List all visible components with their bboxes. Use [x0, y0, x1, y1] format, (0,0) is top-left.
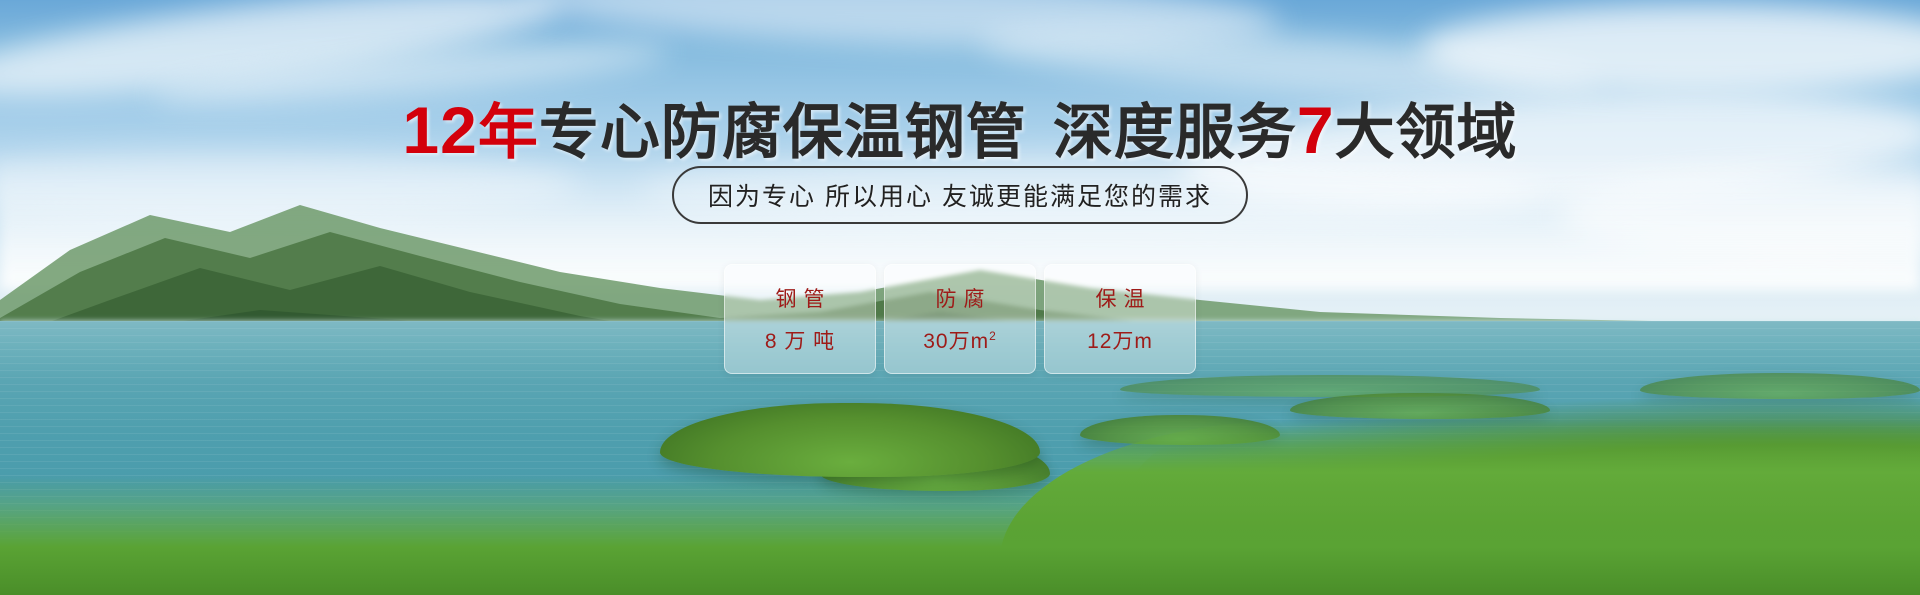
stat-card-insulation[interactable]: 保温 12万m — [1044, 264, 1196, 374]
subtitle-pill: 因为专心 所以用心 友诚更能满足您的需求 — [672, 166, 1248, 224]
stat-card-label: 防腐 — [929, 283, 992, 313]
hero-banner: 12年专心防腐保温钢管深度服务7大领域 因为专心 所以用心 友诚更能满足您的需求… — [0, 0, 1920, 595]
stat-card-value-text: 30万m — [923, 330, 989, 353]
headline-areas-number: 7 — [1297, 93, 1335, 167]
headline-main: 专心防腐保温钢管 — [539, 99, 1027, 166]
stat-card-value: 30万m2 — [923, 325, 997, 355]
headline: 12年专心防腐保温钢管深度服务7大领域 — [0, 84, 1920, 171]
stat-card-label: 保温 — [1089, 283, 1152, 313]
stat-card-value: 8 万 吨 — [765, 325, 835, 355]
stat-card-anticorrosion[interactable]: 防腐 30万m2 — [884, 264, 1036, 374]
stat-card-value-superscript: 2 — [989, 329, 997, 343]
subtitle-container: 因为专心 所以用心 友诚更能满足您的需求 — [0, 166, 1920, 224]
stat-card-value-text: 8 万 吨 — [765, 330, 835, 353]
stat-card-value-text: 12万m — [1087, 330, 1153, 353]
stat-card-label: 钢管 — [769, 283, 832, 313]
headline-service: 深度服务 — [1053, 99, 1297, 166]
headline-years: 12 — [402, 93, 477, 167]
headline-years-suffix: 年 — [478, 99, 539, 166]
banner-content: 12年专心防腐保温钢管深度服务7大领域 因为专心 所以用心 友诚更能满足您的需求… — [0, 0, 1920, 595]
stat-cards: 钢管 8 万 吨 防腐 30万m2 保温 12万m — [0, 264, 1920, 374]
headline-areas-suffix: 大领域 — [1335, 99, 1518, 166]
stat-card-value: 12万m — [1087, 325, 1153, 355]
stat-card-steel-pipe[interactable]: 钢管 8 万 吨 — [724, 264, 876, 374]
